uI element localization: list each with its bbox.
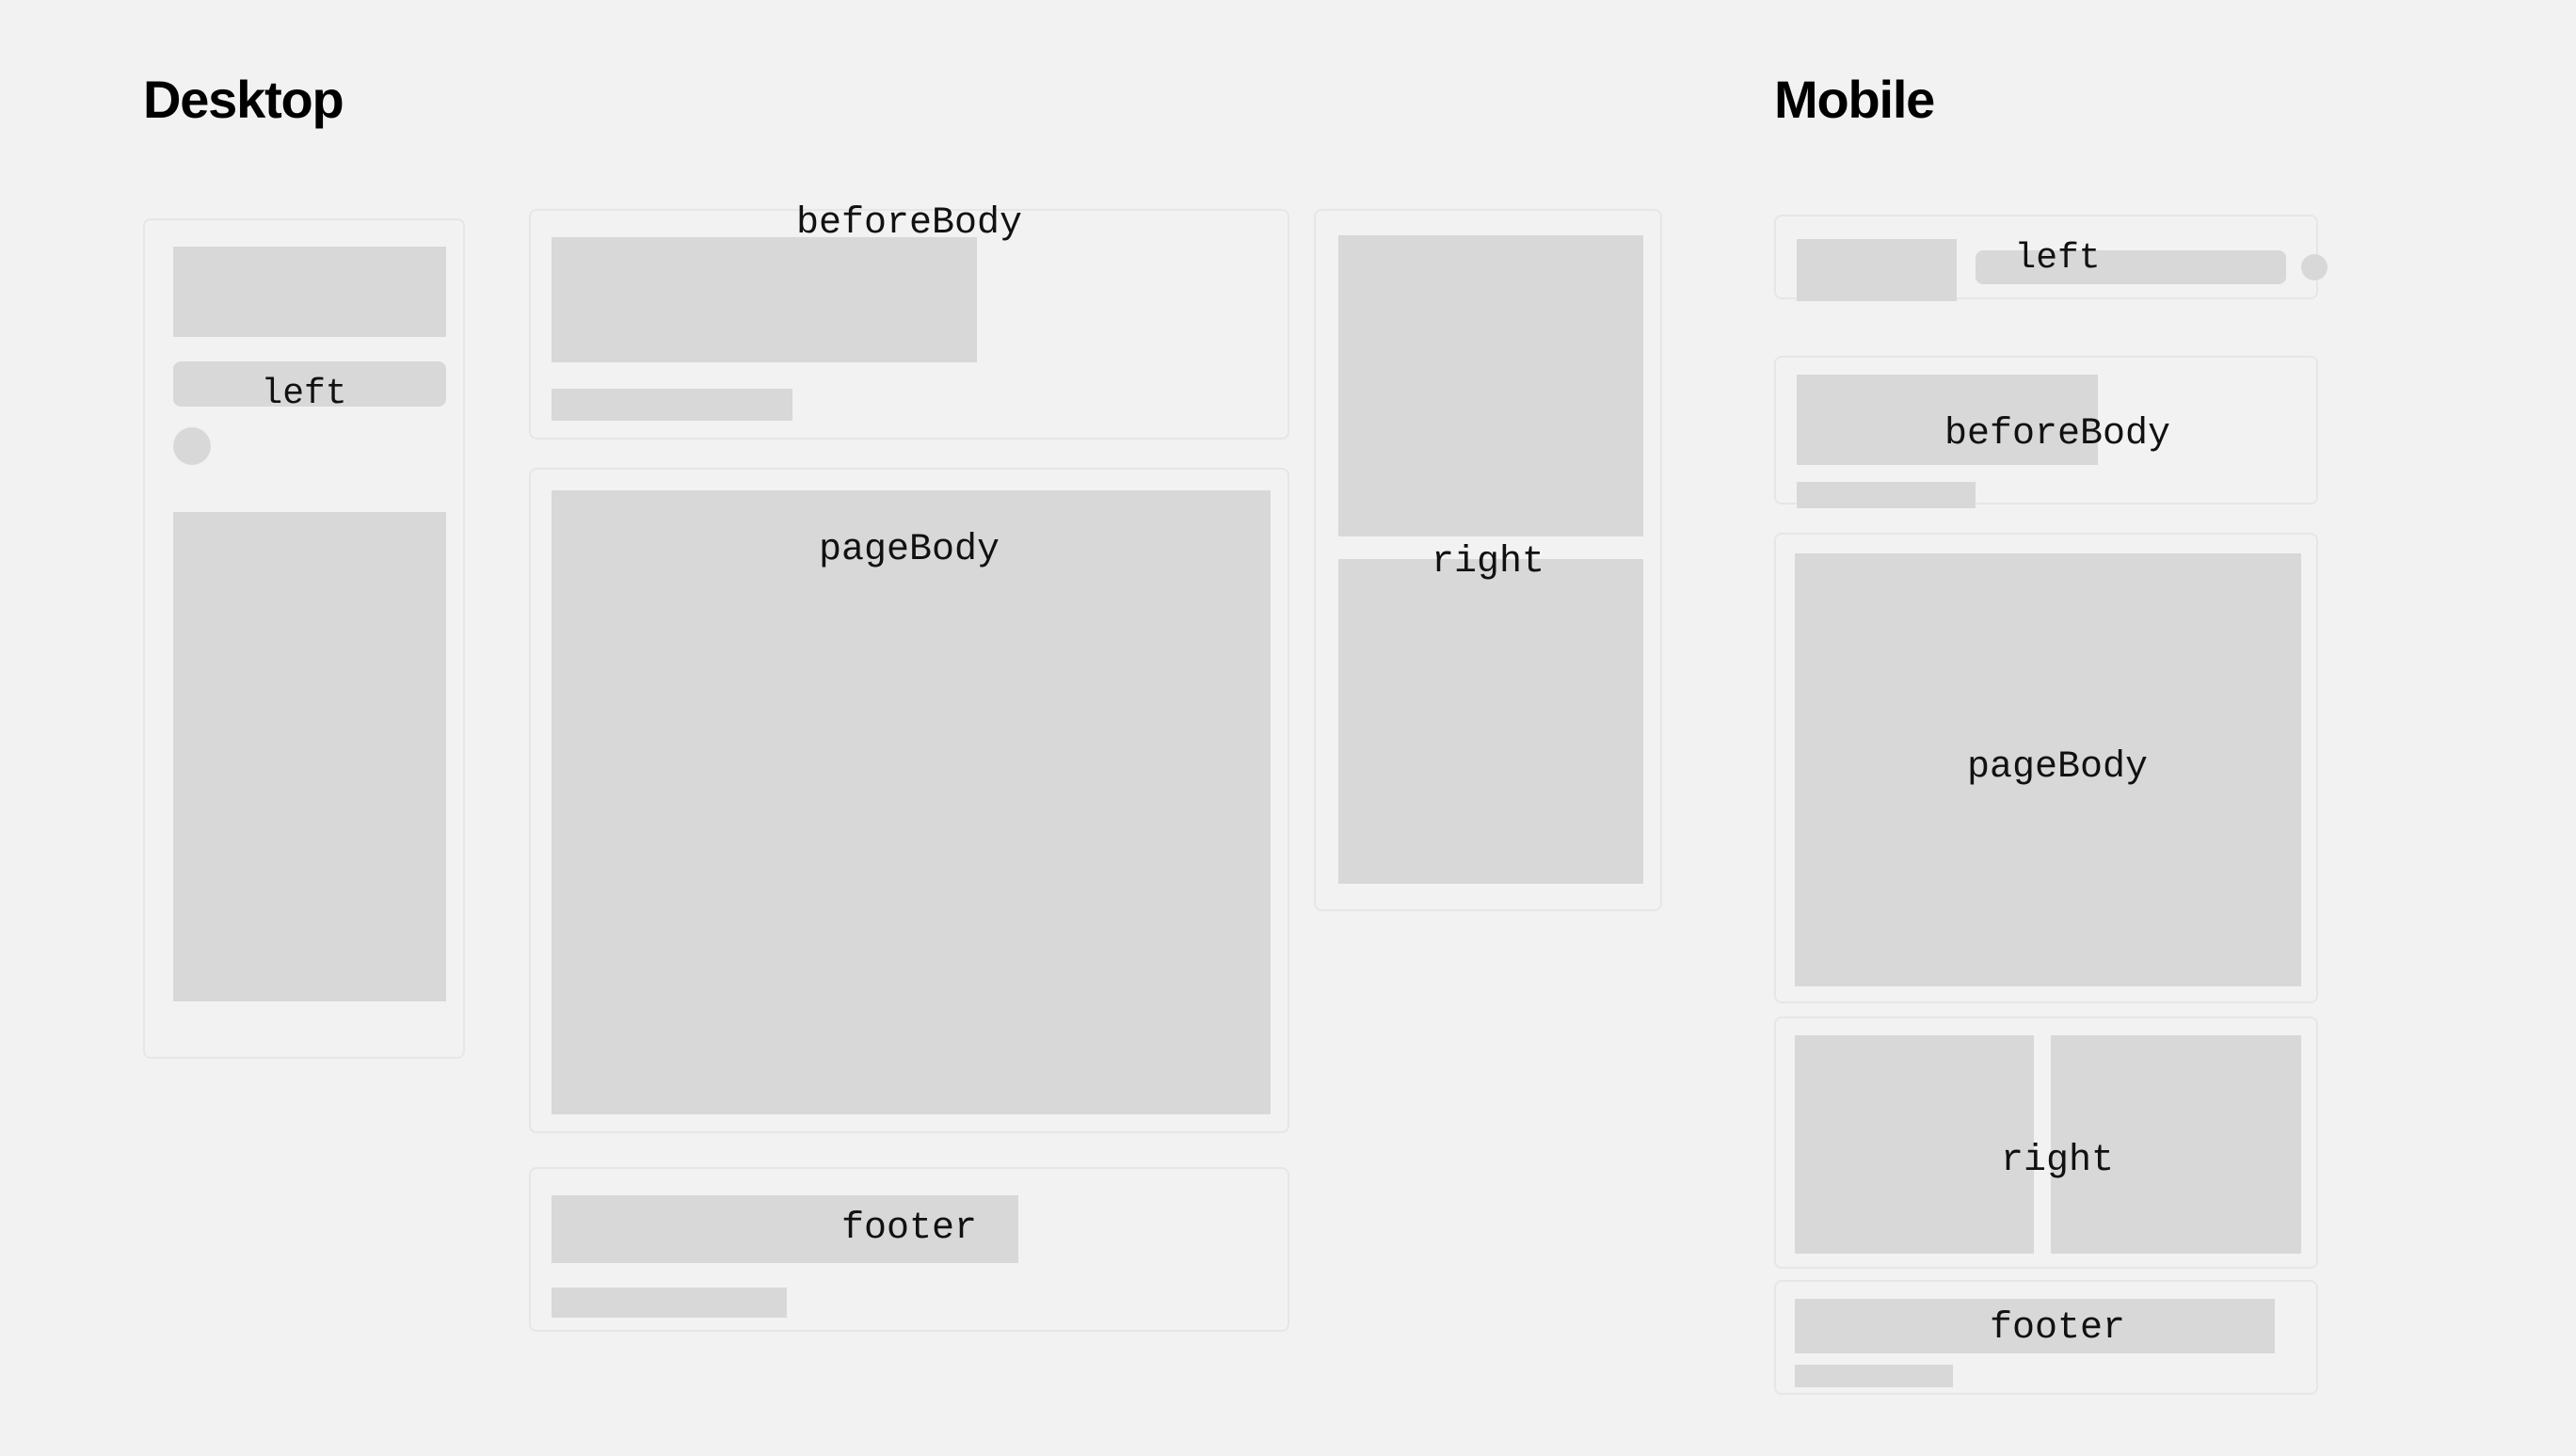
placeholder-block — [1795, 1299, 2275, 1353]
section-title-mobile: Mobile — [1774, 73, 1934, 126]
placeholder-bar — [552, 1288, 787, 1318]
mobile-before-body-panel[interactable] — [1774, 356, 2318, 504]
placeholder-block — [1338, 235, 1643, 536]
placeholder-block — [1795, 1035, 2034, 1254]
desktop-before-body-panel[interactable] — [529, 209, 1289, 440]
placeholder-block — [552, 490, 1271, 1114]
placeholder-block — [552, 237, 977, 362]
desktop-page-body-panel[interactable] — [529, 468, 1289, 1133]
placeholder-bar — [1976, 250, 2286, 284]
placeholder-block — [1797, 375, 2098, 465]
placeholder-bar — [1797, 482, 1976, 508]
placeholder-block — [1797, 239, 1957, 301]
wireframe-canvas: Desktop left beforeBody pageBody footer … — [0, 0, 2576, 1456]
placeholder-bar — [552, 389, 792, 421]
desktop-left-panel[interactable] — [143, 218, 465, 1059]
desktop-footer-panel[interactable] — [529, 1167, 1289, 1332]
placeholder-block — [1795, 553, 2301, 986]
mobile-right-panel[interactable] — [1774, 1016, 2318, 1269]
mobile-footer-panel[interactable] — [1774, 1280, 2318, 1395]
placeholder-block — [2051, 1035, 2301, 1254]
placeholder-block — [173, 247, 446, 337]
section-title-desktop: Desktop — [143, 73, 344, 126]
mobile-left-panel[interactable] — [1774, 215, 2318, 299]
placeholder-circle-icon — [173, 427, 211, 465]
placeholder-circle-icon — [2301, 254, 2328, 280]
mobile-page-body-panel[interactable] — [1774, 533, 2318, 1003]
placeholder-block — [1338, 559, 1643, 884]
placeholder-block — [173, 512, 446, 1001]
placeholder-bar — [173, 361, 446, 407]
placeholder-bar — [1795, 1365, 1953, 1387]
placeholder-block — [552, 1195, 1018, 1263]
desktop-right-panel[interactable] — [1314, 209, 1662, 911]
